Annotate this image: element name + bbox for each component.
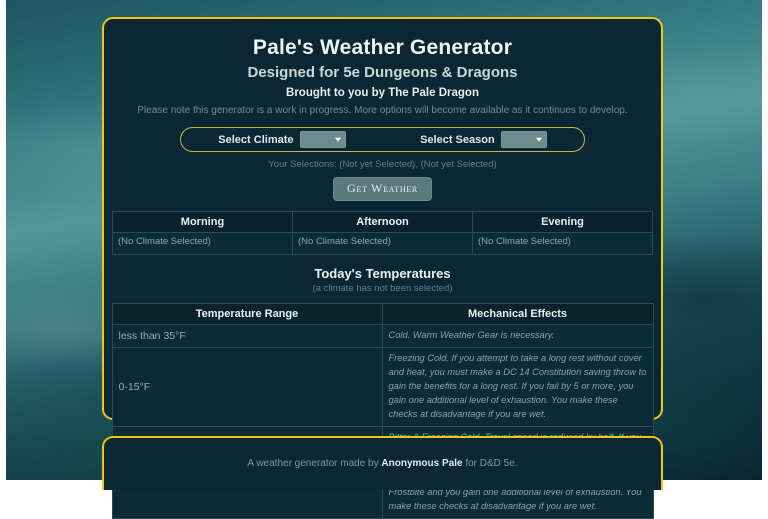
season-select-group: Select Season — [420, 131, 547, 148]
selector-bar: Select Climate Select Season — [180, 127, 585, 152]
temp-range-cell: 0-15°F — [112, 347, 382, 426]
climate-select[interactable] — [300, 131, 346, 148]
main-content-panel: Pale's Weather Generator Designed for 5e… — [102, 17, 663, 420]
table-row: 0-15°F Freezing Cold. If you attempt to … — [112, 347, 653, 426]
climate-select-label: Select Climate — [218, 134, 293, 146]
daypart-cell-morning: (No Climate Selected) — [113, 233, 293, 255]
get-weather-button-wrap: Get Weather — [104, 177, 661, 201]
work-in-progress-note: Please note this generator is a work in … — [104, 105, 661, 116]
your-selections-text: Your Selections: (Not yet Selected), (No… — [104, 159, 661, 170]
chevron-down-icon — [335, 137, 341, 141]
page-title: Pale's Weather Generator — [104, 35, 661, 61]
table-row: less than 35°F Cold. Warm Weather Gear i… — [112, 325, 653, 348]
table-row: (No Climate Selected) (No Climate Select… — [113, 233, 653, 255]
daypart-header-row: Morning Afternoon Evening — [113, 212, 653, 233]
temp-header-range: Temperature Range — [112, 304, 382, 325]
climate-select-group: Select Climate — [218, 131, 345, 148]
footer-credit: A weather generator made by Anonymous Pa… — [104, 438, 661, 469]
get-weather-button[interactable]: Get Weather — [333, 177, 432, 201]
footer-author: Anonymous Pale — [381, 458, 462, 469]
daypart-cell-afternoon: (No Climate Selected) — [293, 233, 473, 255]
footer-panel: A weather generator made by Anonymous Pa… — [102, 436, 663, 490]
temp-header-row: Temperature Range Mechanical Effects — [112, 304, 653, 325]
season-select[interactable] — [501, 131, 547, 148]
todays-temperatures-subtitle: (a climate has not been selected) — [104, 283, 661, 294]
temp-range-cell: less than 35°F — [112, 325, 382, 348]
temp-effects-cell: Cold. Warm Weather Gear is necessary. — [382, 325, 653, 348]
daypart-header-morning: Morning — [113, 212, 293, 233]
header-block: Pale's Weather Generator Designed for 5e… — [104, 19, 661, 116]
page-subtitle: Designed for 5e Dungeons & Dragons — [104, 64, 661, 83]
daypart-header-afternoon: Afternoon — [293, 212, 473, 233]
daypart-header-evening: Evening — [473, 212, 653, 233]
footer-prefix: A weather generator made by — [247, 458, 381, 469]
page-root: Pale's Weather Generator Designed for 5e… — [0, 0, 768, 480]
season-select-label: Select Season — [420, 134, 495, 146]
footer-suffix: for D&D 5e. — [463, 458, 518, 469]
todays-temperatures-block: Today's Temperatures (a climate has not … — [104, 266, 661, 294]
daypart-cell-evening: (No Climate Selected) — [473, 233, 653, 255]
temp-effects-cell: Freezing Cold. If you attempt to take a … — [382, 347, 653, 426]
temp-header-effects: Mechanical Effects — [382, 304, 653, 325]
daypart-table: Morning Afternoon Evening (No Climate Se… — [112, 211, 653, 255]
byline: Brought to you by The Pale Dragon — [104, 87, 661, 99]
todays-temperatures-title: Today's Temperatures — [104, 266, 661, 281]
chevron-down-icon — [536, 137, 542, 141]
